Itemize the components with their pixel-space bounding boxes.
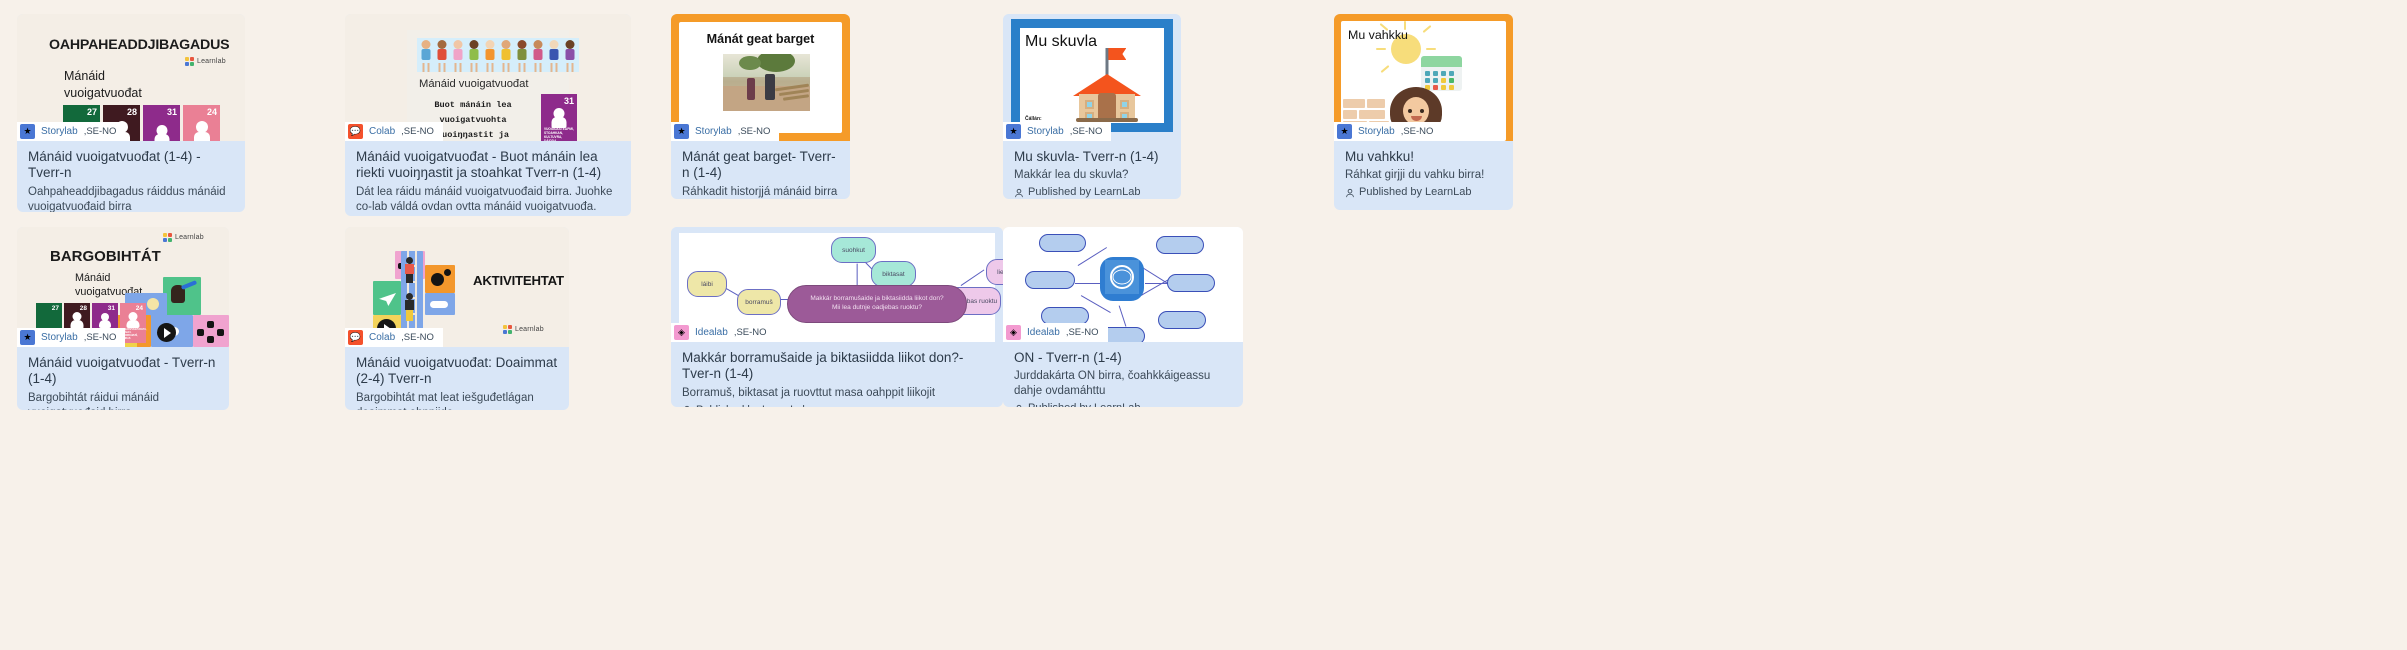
card-author-label: Published by LearnLab [696,404,809,407]
card-author: Published by LearnLab [1014,402,1232,407]
thumb-heading: Mánát geat barget [671,32,850,46]
mindmap-branch-node[interactable] [1167,274,1215,292]
learnlab-logo: Learnlab [503,325,544,334]
mindmap-node[interactable]: láibi [687,271,727,297]
card-title: Mánáid vuoigatvuođat: Doaimmat (2-4) Tve… [356,355,558,388]
thumb-heading: Mu vahkku [1348,28,1408,42]
provider-badge[interactable]: ★ Storylab ,SE-NO [17,122,125,141]
provider-badge[interactable]: ★ Storylab ,SE-NO [1003,122,1111,141]
card-author: Published by LearnLab [682,404,992,407]
provider-language: ,SE-NO [1401,126,1434,137]
mindmap-center-node[interactable]: Makkár borramušaide ja biktasiidda liiko… [787,285,967,323]
provider-badge[interactable]: 💬 Colab ,SE-NO [345,328,443,347]
card-title: Makkár borramušaide ja biktasiidda liiko… [682,350,992,383]
resource-card[interactable]: ON ◈ Idealab ,SE-NO ON - Tverr-n (1-4) J… [1003,227,1243,407]
thumb-subtitle-line-2: vuoigatvuođat [64,86,142,100]
card-thumbnail: Learnlab BARGOBIHTÁT Mánáid vuoigatvuođa… [17,227,229,347]
storylab-icon: ★ [674,124,689,139]
card-description: Oahpaheaddjibagadus ráiddus mánáid vuoig… [28,185,234,212]
mindmap-branch-node[interactable] [1039,234,1086,252]
tile-cloud [425,293,455,315]
card-description: Dát lea ráidu mánáid vuoigatvuođaid birr… [356,185,620,216]
idealab-icon: ◈ [1006,325,1021,340]
provider-badge[interactable]: ★ Storylab ,SE-NO [671,122,779,141]
card-author: Published by LearnLab [1014,186,1170,199]
colab-icon: 💬 [348,330,363,345]
card-author-label: Published by LearnLab [1028,402,1141,407]
card-thumbnail: OAHPAHEADDJIBAGADUS Learnlab Mánáid vuoi… [17,14,245,141]
sdg-pictogram-icon [143,121,180,141]
provider-language: ,SE-NO [738,126,771,137]
resource-card[interactable]: Learnlab BARGOBIHTÁT Mánáid vuoigatvuođa… [17,227,229,410]
resource-card[interactable]: AKTIVITEHTAT Learnlab 💬 Colab ,SE-NO Mán… [345,227,569,410]
provider-language: ,SE-NO [84,126,117,137]
card-thumbnail: ON ◈ Idealab ,SE-NO [1003,227,1243,342]
card-author: Published by LearnLab [1345,186,1502,199]
card-meta: Mánát geat barget- Tverr-n (1-4) Ráhkadi… [671,141,850,199]
provider-badge[interactable]: ◈ Idealab ,SE-NO [671,323,776,342]
mindmap-node[interactable]: biktasat [871,261,916,287]
card-title: Mu vahkku! [1345,149,1502,165]
card-meta: Mu skuvla- Tverr-n (1-4) Makkár lea du s… [1003,141,1181,199]
child-figure [451,38,466,72]
learnlab-mark-icon [185,57,194,66]
tile-telescope [163,277,201,315]
thumb-heading: BARGOBIHTÁT [50,248,161,265]
learnlab-logo: Learnlab [185,57,226,66]
learnlab-mark-icon [163,233,172,242]
idealab-icon: ◈ [674,325,689,340]
tile-send [373,281,401,315]
colab-icon: 💬 [348,124,363,139]
storylab-icon: ★ [1006,124,1021,139]
provider-name: Colab [369,332,395,343]
provider-badge[interactable]: ★ Storylab ,SE-NO [17,328,125,347]
sdg-badge: 31 VUOIŊŊASTEAPMI, STOAHKAN, KULTUVRA, D… [143,105,180,141]
provider-name: Storylab [695,126,732,137]
card-title: Mánáid vuoigatvuođat - Tverr-n (1-4) [28,355,218,388]
storylab-icon: ★ [20,330,35,345]
thumb-heading: OAHPAHEADDJIBAGADUS [49,37,229,53]
sdg-pictogram-icon [183,121,220,141]
card-thumbnail: Mánát geat barget ★ Storylab ,SE-NO [671,14,850,141]
child-figure [563,38,578,72]
card-meta: Makkár borramušaide ja biktasiidda liiko… [671,342,1003,407]
thumb-heading: Mu skuvla [1025,33,1097,51]
resource-card[interactable]: suohkut biktasat láibi borramuš oadjebas… [671,227,1003,407]
storylab-icon: ★ [20,124,35,139]
mindmap-node[interactable]: liekkas [986,259,1003,285]
child-figure [483,38,498,72]
card-meta: Mánáid vuoigatvuođat - Tverr-n (1-4) Bar… [17,347,229,410]
card-description: Borramuš, biktasat ja ruovttut masa oahp… [682,386,992,401]
person-icon [682,405,692,407]
child-figure [435,38,450,72]
resource-card[interactable]: Mánát geat barget ★ Storylab ,SE-NO [671,14,850,199]
provider-language: ,SE-NO [734,327,767,338]
tile-network [193,315,229,347]
card-thumbnail: Mánáid vuoigatvuođat Buot mánáin lea vuo… [345,14,631,141]
person-icon [1014,404,1024,407]
mindmap-branch-node[interactable] [1025,271,1075,289]
child-figure [499,38,514,72]
card-title: Mánát geat barget- Tverr-n (1-4) [682,149,839,182]
climber-figure [403,293,417,321]
school-illustration [1073,60,1141,122]
card-author-label: Published by LearnLab [1028,186,1141,199]
card-meta: Mánáid vuoigatvuođat - Buot mánáin lea r… [345,141,631,216]
card-author-label: Published by LearnLab [1359,186,1472,199]
resource-card[interactable]: Mu vahkku [1334,14,1513,210]
tile-gear [425,265,455,293]
provider-language: ,SE-NO [1070,126,1103,137]
storylab-icon: ★ [1337,124,1352,139]
card-description: Makkár lea du skuvla? [1014,168,1170,183]
un-emblem-icon [1105,260,1139,294]
card-meta: Mu vahkku! Ráhkat girjji du vahku birra!… [1334,141,1513,210]
card-description: Ráhkat girjji du vahku birra! [1345,168,1502,183]
provider-language: ,SE-NO [401,126,434,137]
card-meta: Mánáid vuoigatvuođat: Doaimmat (2-4) Tve… [345,347,569,410]
provider-language: ,SE-NO [84,332,117,343]
resource-card[interactable]: Mánáid vuoigatvuođat Buot mánáin lea vuo… [345,14,631,216]
child-figure [515,38,530,72]
provider-badge[interactable]: ◈ Idealab ,SE-NO [1003,323,1108,342]
learnlab-mark-icon [503,325,512,334]
thumb-heading: AKTIVITEHTAT [473,273,564,288]
sdg-badge: 31 VUOIŊŊASTEAPMI, STOAHKAN, KULTUVRA, D… [541,94,577,141]
card-thumbnail: Mu skuvla Čállán: ★ Storylab ,SE-NO [1003,14,1181,141]
provider-language: ,SE-NO [1066,327,1099,338]
provider-language: ,SE-NO [401,332,434,343]
card-thumbnail: Mu vahkku [1334,14,1513,141]
provider-badge[interactable]: ★ Storylab ,SE-NO [1334,122,1442,141]
mindmap-center-node-on[interactable]: ON [1100,257,1144,301]
sdg-badge: 24 DEARVVASVUOHTA, ČÁHCI, BORRAMUŠ, BIRA… [183,105,220,141]
mindmap-branch-node[interactable] [1158,311,1206,329]
child-figure [531,38,546,72]
card-description: Bargobihtát mat leat iešguđetlágan doaim… [356,391,558,410]
play-icon[interactable] [157,323,176,342]
person-icon [1345,188,1355,198]
work-photo [723,54,810,111]
provider-name: Storylab [1358,126,1395,137]
thumb-heading: Mánáid vuoigatvuođat [419,78,528,90]
learnlab-logo: Learnlab [163,233,204,242]
card-thumbnail: AKTIVITEHTAT Learnlab 💬 Colab ,SE-NO [345,227,569,347]
child-figure [419,38,434,72]
card-description: Jurddakárta ON birra, čoahkkáigeassu dah… [1014,369,1232,399]
person-icon [1014,188,1024,198]
card-title: Mánáid vuoigatvuođat (1-4) - Tverr-n [28,149,234,182]
resource-card-grid: OAHPAHEADDJIBAGADUS Learnlab Mánáid vuoi… [0,0,2407,650]
card-meta: Mánáid vuoigatvuođat (1-4) - Tverr-n Oah… [17,141,245,212]
children-illustration [417,38,579,72]
child-figure [547,38,562,72]
child-figure [467,38,482,72]
provider-badge[interactable]: 💬 Colab ,SE-NO [345,122,443,141]
mindmap-node[interactable]: borramuš [737,289,781,315]
card-description: Bargobihtát ráidui mánáid vuoigatvuođaid… [28,391,218,410]
provider-name: Storylab [41,332,78,343]
thumb-subtitle-line-1: Mánáid [64,69,105,83]
card-thumbnail: suohkut biktasat láibi borramuš oadjebas… [671,227,1003,342]
provider-name: Storylab [1027,126,1064,137]
resource-card[interactable]: Mu skuvla Čállán: ★ Storylab ,SE-NO [1003,14,1181,199]
card-title: ON - Tverr-n (1-4) [1014,350,1232,366]
provider-name: Colab [369,126,395,137]
card-description: Ráhkadit historjjá mánáid birra geat bar… [682,185,839,199]
resource-card[interactable]: OAHPAHEADDJIBAGADUS Learnlab Mánáid vuoi… [17,14,245,212]
thumb-subtitle-line-1: Mánáid [75,272,110,284]
card-title: Mu skuvla- Tverr-n (1-4) [1014,149,1170,165]
provider-name: Storylab [41,126,78,137]
provider-name: Idealab [695,327,728,338]
provider-name: Idealab [1027,327,1060,338]
mindmap-branch-node[interactable] [1156,236,1204,254]
card-title: Mánáid vuoigatvuođat - Buot mánáin lea r… [356,149,620,182]
mindmap-node[interactable]: suohkut [831,237,876,263]
climber-figure [403,257,417,283]
card-meta: ON - Tverr-n (1-4) Jurddakárta ON birra,… [1003,342,1243,407]
